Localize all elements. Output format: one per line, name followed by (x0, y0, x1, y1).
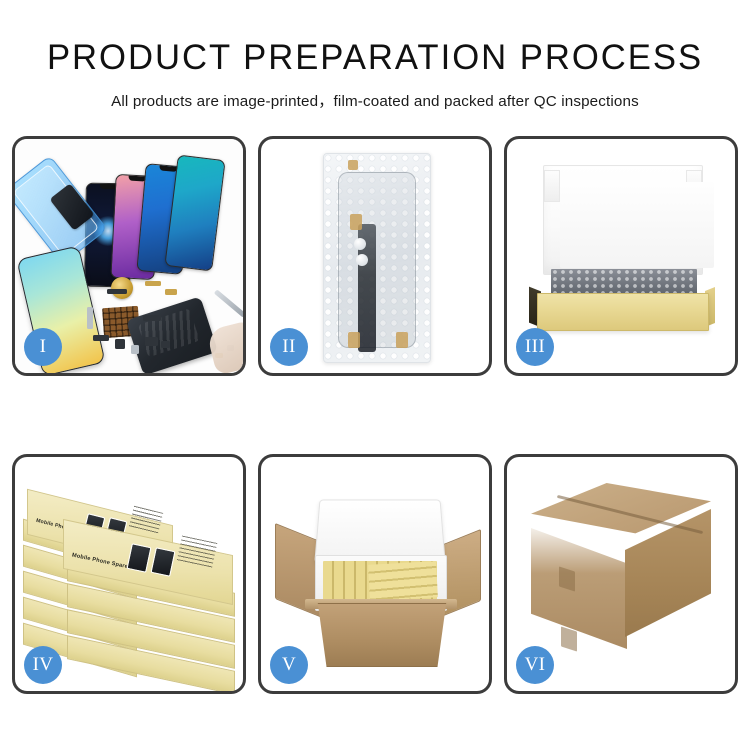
kraft-box-base (537, 293, 709, 331)
page-header: PRODUCT PREPARATION PROCESS All products… (0, 0, 750, 111)
bubble-highlight (354, 238, 366, 250)
process-step-panel-6[interactable]: VI (504, 454, 738, 694)
kraft-box-stack: Mobile Phone Spare Parts Mobile Phone Sp… (23, 479, 235, 675)
spare-part (161, 341, 170, 348)
tape-strip (348, 332, 360, 348)
process-step-panel-2[interactable]: II (258, 136, 492, 376)
step-badge-3: III (516, 328, 554, 366)
bubble-wrap-package (323, 153, 431, 363)
spare-part (87, 307, 93, 329)
spare-part (131, 345, 139, 354)
foam-lid (543, 165, 703, 275)
spare-part (107, 289, 127, 294)
speaker-coil-part (111, 277, 133, 299)
wrapped-part-outline (338, 172, 416, 348)
carton-tape-mark (561, 626, 577, 651)
tape-strip (348, 160, 358, 170)
open-inner-box (529, 165, 715, 335)
sealed-shipping-carton (525, 483, 717, 659)
spare-part (145, 281, 161, 286)
spare-part (143, 315, 161, 321)
step-badge-1: I (24, 328, 62, 366)
foam-sheet (560, 182, 714, 268)
spare-part (145, 337, 158, 346)
process-step-panel-1[interactable]: I (12, 136, 246, 376)
process-step-panel-4[interactable]: Mobile Phone Spare Parts Mobile Phone Sp… (12, 454, 246, 694)
process-step-panel-3[interactable]: III (504, 136, 738, 376)
bubble-highlight (356, 254, 368, 266)
step-badge-2: II (270, 328, 308, 366)
open-shipping-carton (275, 481, 481, 671)
process-step-panel-5[interactable]: V (258, 454, 492, 694)
phone-notch-icon (159, 165, 177, 172)
tape-strip (350, 214, 362, 230)
spare-part (115, 339, 125, 349)
carton-body (309, 603, 455, 667)
styrofoam-lid (314, 500, 445, 564)
tape-strip (396, 332, 408, 348)
step-badge-5: V (270, 646, 308, 684)
process-step-grid: I II (12, 136, 738, 694)
packed-kraft-boxes-secondary (368, 561, 438, 601)
page-title: PRODUCT PREPARATION PROCESS (4, 0, 747, 77)
carton-left-face (531, 523, 627, 649)
step-badge-6: VI (516, 646, 554, 684)
step-badge-4: IV (24, 646, 62, 684)
page-subtitle: All products are image-printed，film-coat… (0, 77, 750, 111)
lid-flap-left (544, 170, 560, 202)
spare-part (165, 289, 177, 295)
spare-part (93, 335, 109, 341)
